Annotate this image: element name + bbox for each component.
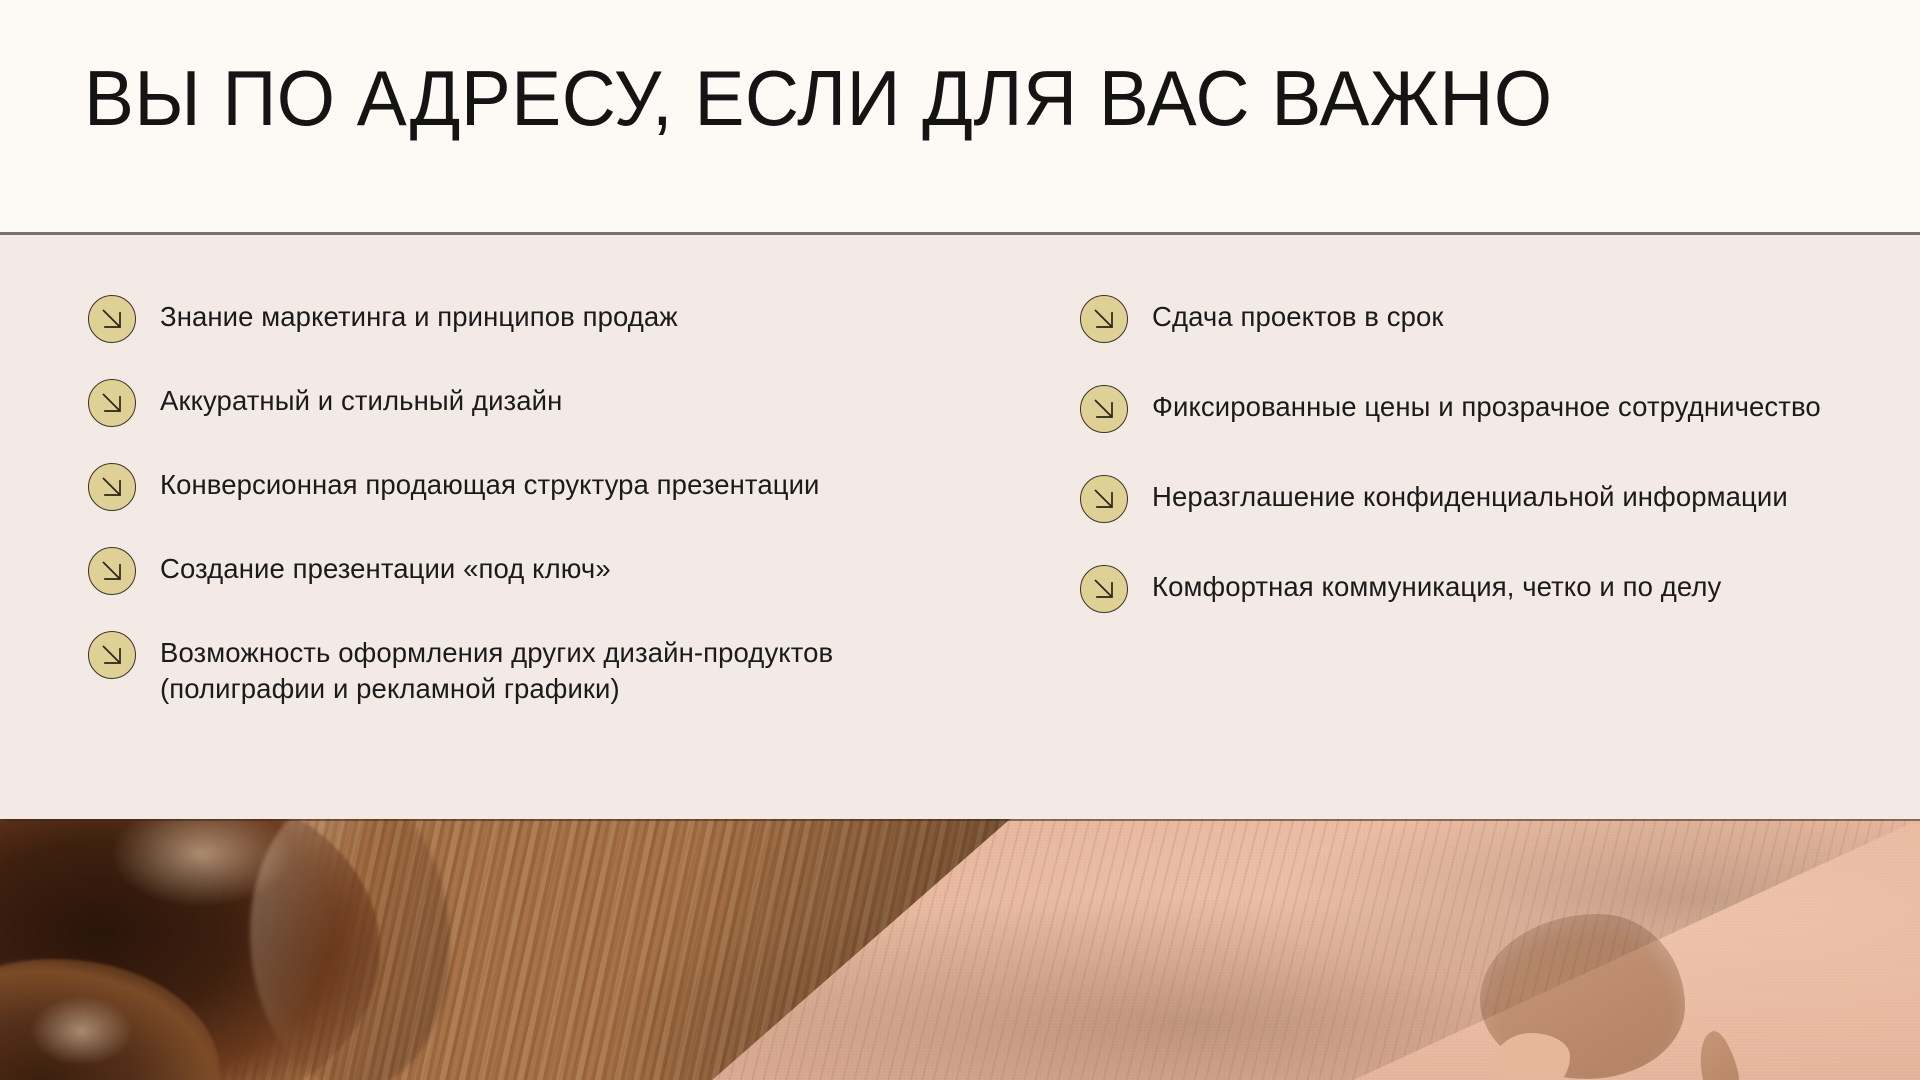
slide-body: Знание маркетинга и принципов продаж Акк…	[0, 235, 1920, 819]
presentation-slide: ВЫ ПО АДРЕСУ, ЕСЛИ ДЛЯ ВАС ВАЖНО Знание …	[0, 0, 1920, 1080]
list-item-label: Возможность оформления других дизайн-про…	[160, 629, 868, 707]
list-item-label: Сдача проектов в срок	[1152, 293, 1444, 335]
arrow-down-right-icon	[1080, 565, 1128, 613]
photo-top-edge	[0, 819, 1920, 821]
list-item[interactable]: Фиксированные цены и прозрачное сотрудни…	[1080, 383, 1840, 433]
arrow-down-right-icon	[88, 631, 136, 679]
list-item[interactable]: Знание маркетинга и принципов продаж	[88, 293, 868, 343]
list-item-label: Конверсионная продающая структура презен…	[160, 461, 820, 503]
list-item[interactable]: Комфортная коммуникация, четко и по делу	[1080, 563, 1840, 613]
arrow-down-right-icon	[88, 295, 136, 343]
list-item-label: Аккуратный и стильный дизайн	[160, 377, 562, 419]
page-title: ВЫ ПО АДРЕСУ, ЕСЛИ ДЛЯ ВАС ВАЖНО	[84, 58, 1553, 140]
list-item[interactable]: Создание презентации «под ключ»	[88, 545, 868, 595]
list-item-label: Знание маркетинга и принципов продаж	[160, 293, 678, 335]
list-item[interactable]: Аккуратный и стильный дизайн	[88, 377, 868, 427]
arrow-down-right-icon	[1080, 295, 1128, 343]
arrow-down-right-icon	[88, 547, 136, 595]
list-item-label: Неразглашение конфиденциальной информаци…	[1152, 473, 1788, 515]
bullet-columns: Знание маркетинга и принципов продаж Акк…	[0, 235, 1920, 819]
arrow-down-right-icon	[88, 379, 136, 427]
slide-header: ВЫ ПО АДРЕСУ, ЕСЛИ ДЛЯ ВАС ВАЖНО	[0, 0, 1920, 232]
list-item[interactable]: Неразглашение конфиденциальной информаци…	[1080, 473, 1840, 523]
bullet-column-left: Знание маркетинга и принципов продаж Акк…	[88, 293, 868, 741]
arrow-down-right-icon	[88, 463, 136, 511]
arrow-down-right-icon	[1080, 475, 1128, 523]
list-item-label: Фиксированные цены и прозрачное сотрудни…	[1152, 383, 1821, 425]
list-item-label: Комфортная коммуникация, четко и по делу	[1152, 563, 1721, 605]
glass-rim-highlight	[250, 819, 450, 1080]
arrow-down-right-icon	[1080, 385, 1128, 433]
list-item[interactable]: Возможность оформления других дизайн-про…	[88, 629, 868, 707]
bullet-column-right: Сдача проектов в срок Фиксированные цены…	[1080, 293, 1840, 653]
footer-photo	[0, 819, 1920, 1080]
list-item-label: Создание презентации «под ключ»	[160, 545, 611, 587]
list-item[interactable]: Конверсионная продающая структура презен…	[88, 461, 868, 511]
list-item[interactable]: Сдача проектов в срок	[1080, 293, 1840, 343]
